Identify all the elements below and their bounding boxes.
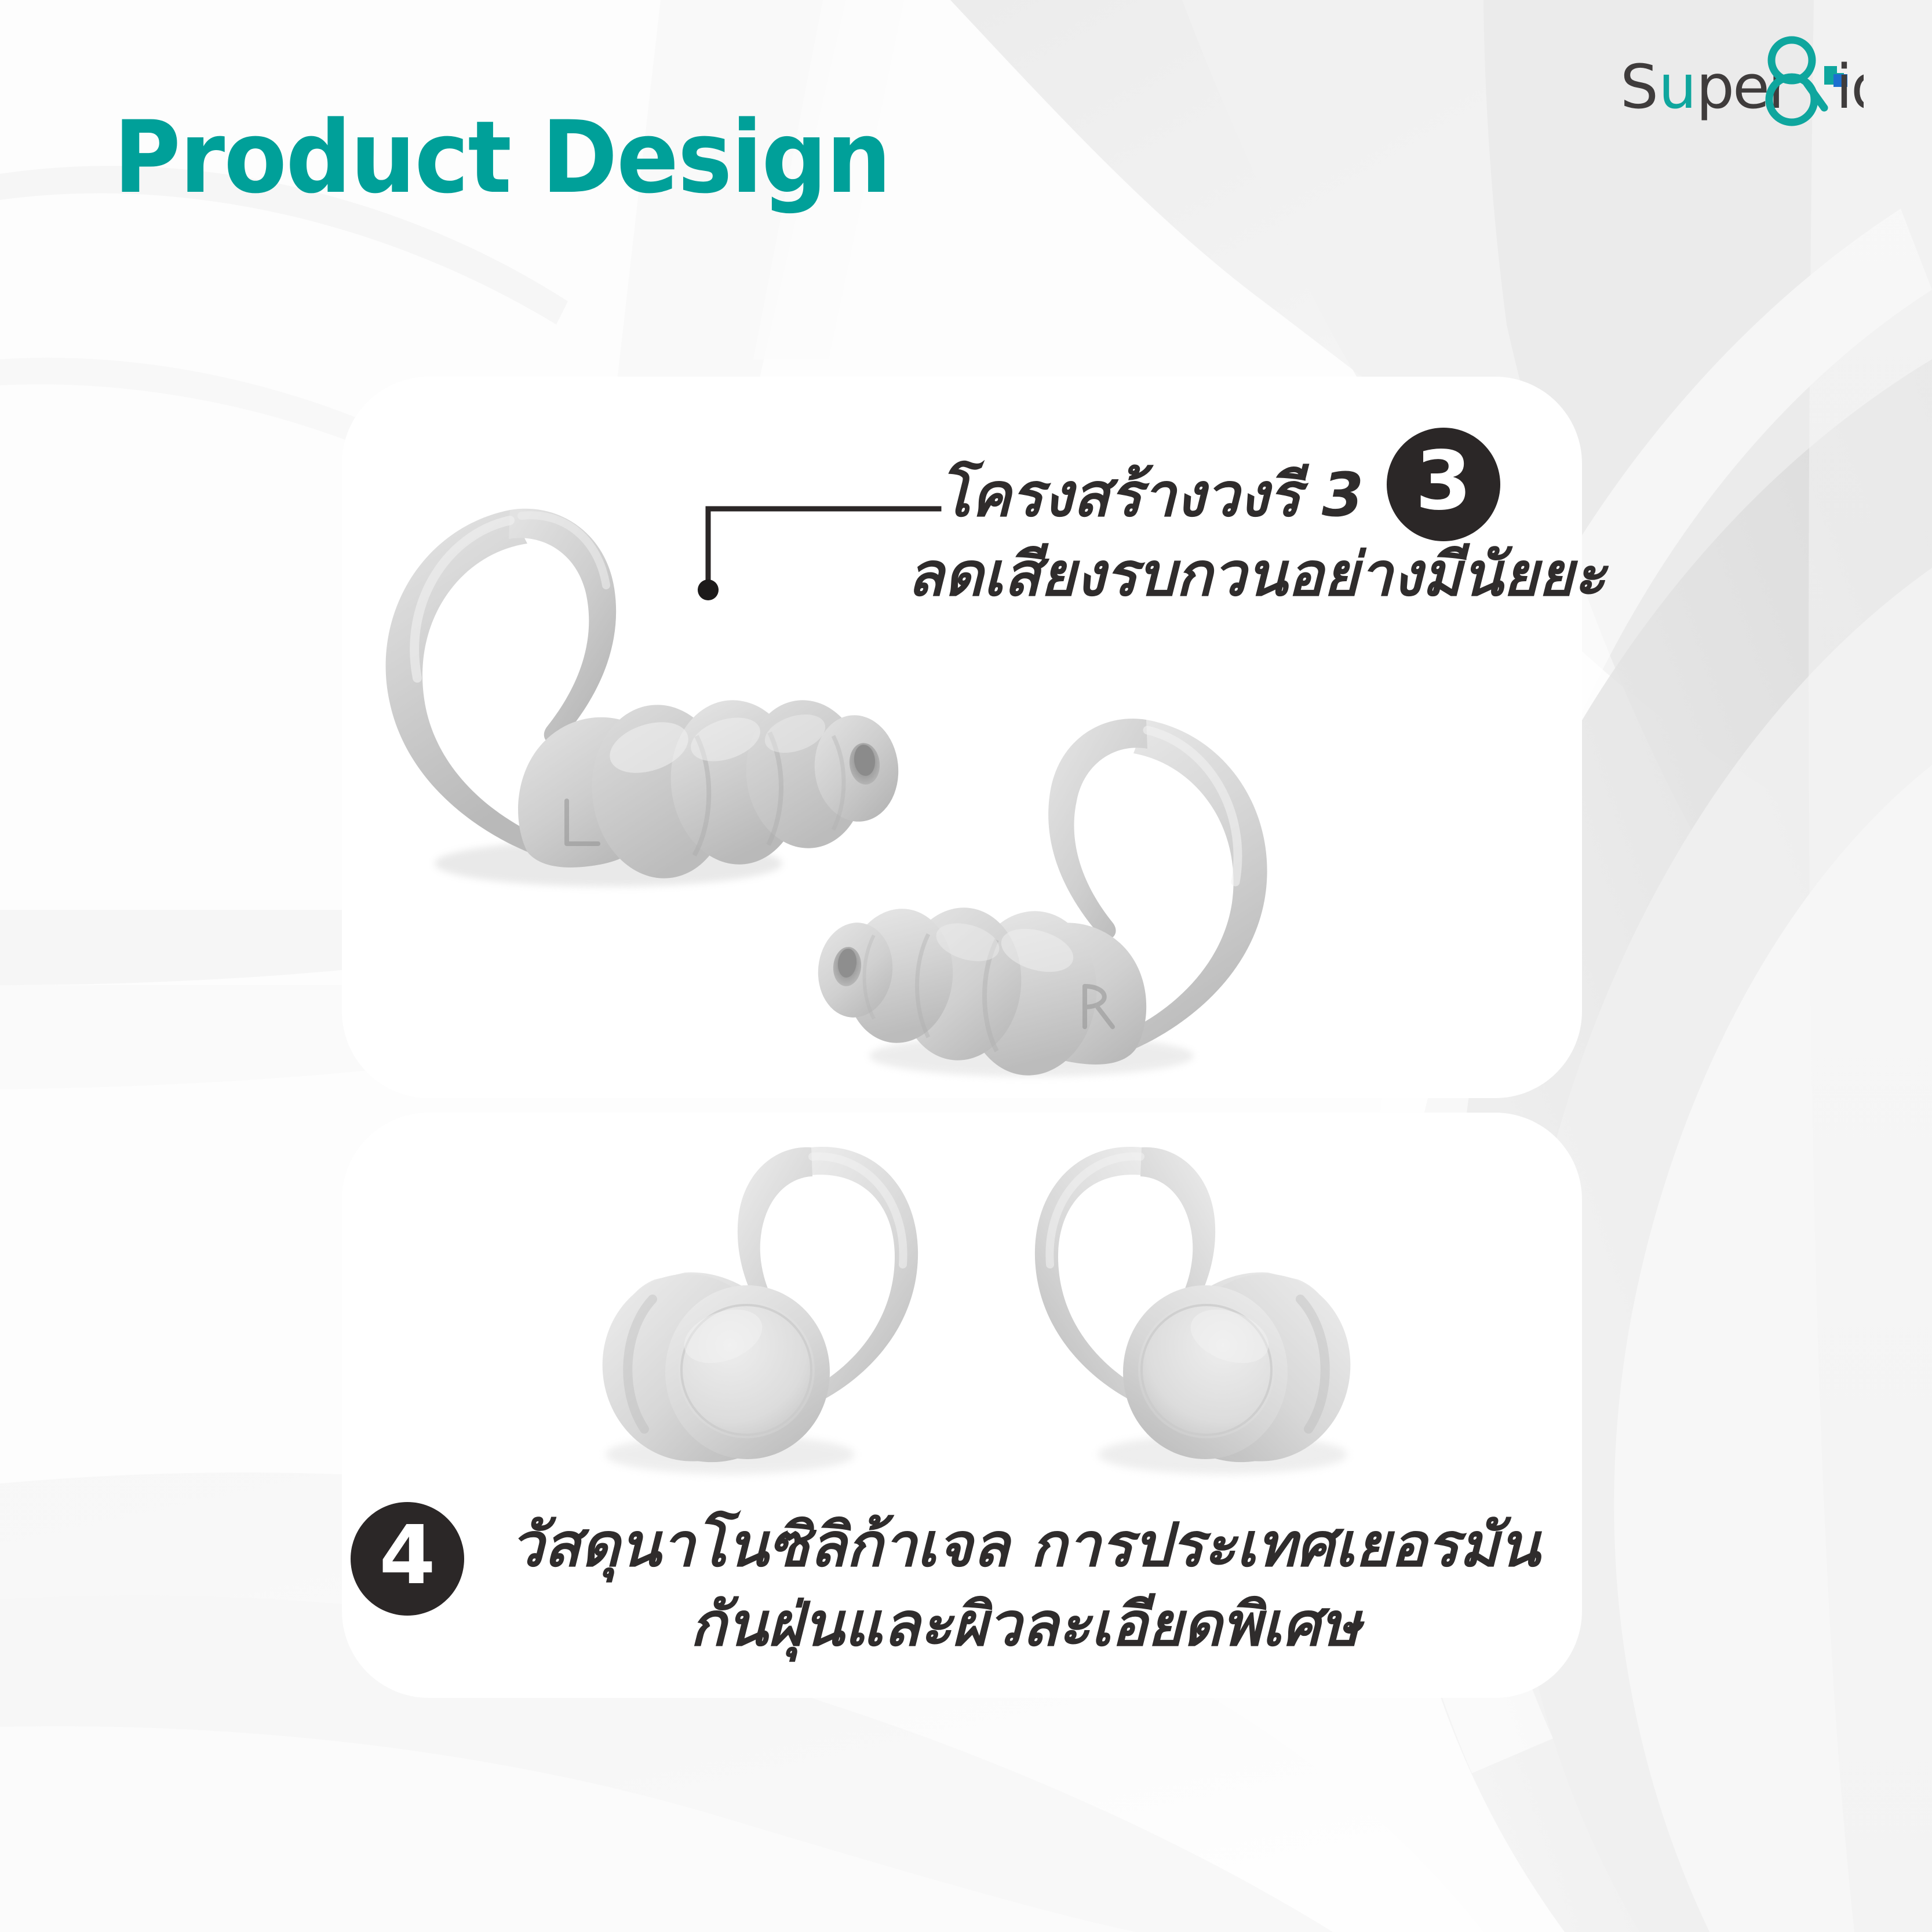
callout-3-line-1: โครงสร้างวงรี 3 ชั้น	[907, 455, 1606, 535]
callout-3-line-2: ลดเสียงรบกวนอย่างมีนัยยะ	[907, 535, 1606, 614]
page-title: Product Design	[114, 108, 890, 207]
callout-badge-4: 4	[351, 1502, 464, 1616]
svg-text:u: u	[1658, 52, 1695, 122]
brand-logo[interactable]: S u per id	[1620, 39, 1864, 126]
svg-text:S: S	[1620, 52, 1657, 122]
left-earplug-outer-face	[539, 1095, 945, 1501]
right-earplug-outer-face	[1008, 1095, 1414, 1501]
callout-4-line-2: กันฝุ่นและผิวละเอียดพิเศษ	[510, 1585, 1540, 1664]
svg-text:id: id	[1836, 52, 1864, 122]
svg-text:per: per	[1696, 52, 1793, 122]
logo-wordmark: S u per	[1620, 52, 1793, 122]
callout-badge-3: 3	[1387, 428, 1500, 541]
callout-text-3: โครงสร้างวงรี 3 ชั้น ลดเสียงรบกวนอย่างมี…	[907, 455, 1606, 615]
callout-4-line-1: วัสดุนาโนซิลิก้าเจล การประเทศเยอรมัน	[510, 1505, 1540, 1585]
poster-canvas: S u per id Product Design	[0, 0, 1932, 1932]
callout-text-4: วัสดุนาโนซิลิก้าเจล การประเทศเยอรมัน กัน…	[510, 1505, 1540, 1665]
right-earplug-three-flange	[800, 666, 1298, 1107]
leader-endpoint-dot	[698, 579, 719, 600]
callout-leader-line	[666, 487, 945, 614]
